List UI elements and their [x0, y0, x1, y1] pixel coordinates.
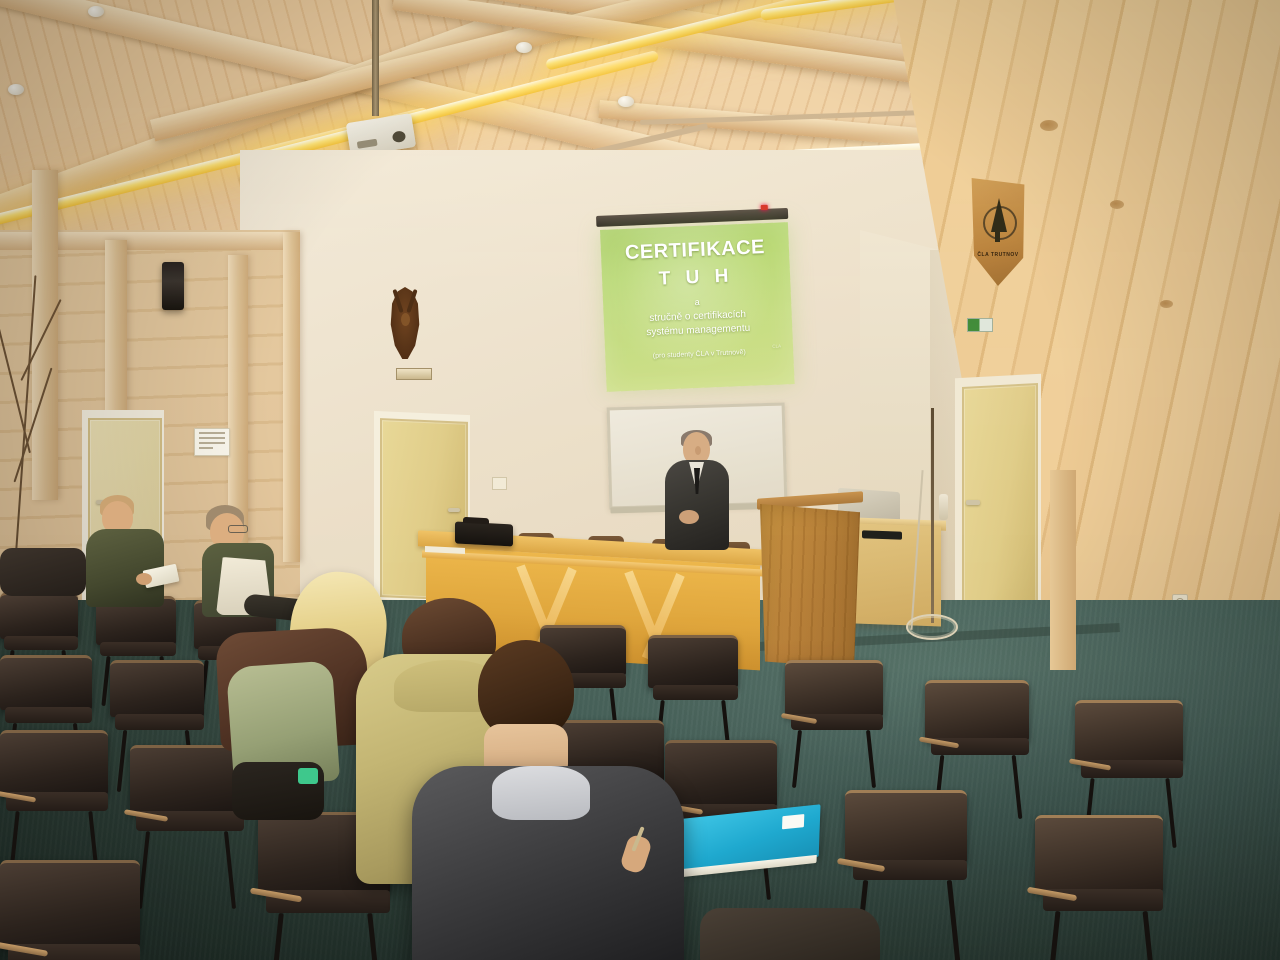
coiled-cable: [906, 614, 958, 640]
green-item: [298, 768, 318, 784]
tree-emblem-icon: [982, 196, 1014, 248]
coat-on-chair: [0, 548, 86, 596]
hunting-trophy-mount: [388, 287, 422, 362]
status-led: [761, 205, 768, 210]
wall-hook: [939, 494, 948, 520]
antenna-pole: [931, 408, 934, 623]
smoke-detector-1: [88, 6, 104, 17]
slide-content: CERTIFIKACE T U H a stručně o certifikac…: [600, 222, 793, 362]
trophy-snout: [401, 313, 410, 326]
man1-hand: [136, 573, 152, 585]
light-switch[interactable]: [492, 477, 507, 490]
smoke-detector-4: [516, 42, 532, 53]
projector-vent: [357, 139, 378, 149]
wall-corner-post: [1050, 470, 1076, 670]
briefcase-on-desk: [455, 521, 513, 546]
slide-audience-note: (pro studenty ČLA v Trutnově): [605, 347, 793, 362]
wood-knot-1: [1040, 120, 1058, 131]
eyeglasses-icon: [228, 525, 248, 533]
slide-title-line2: T U H: [602, 264, 791, 291]
slide-footer-mark: CLA: [772, 344, 781, 349]
wall-speaker: [162, 262, 184, 310]
pennant-text: ČLA TRUTNOV: [974, 252, 1022, 258]
av-equipment: [862, 530, 902, 539]
wooden-lectern: [757, 495, 863, 670]
lecture-hall-photo: ČLA TRUTNOV CERTIFIKACE T U H a stručně …: [0, 0, 1280, 960]
wood-knot-2: [1110, 200, 1124, 209]
smoke-detector-5: [618, 96, 634, 107]
wall-post-4: [283, 232, 300, 562]
smoke-detector-2: [8, 84, 24, 95]
emblem-trunk: [995, 230, 1000, 242]
bag-on-floor: [700, 908, 880, 960]
door-left-handle[interactable]: [448, 508, 460, 512]
slide-title-line1: CERTIFIKACE: [601, 236, 790, 264]
hoodie-inner-collar: [492, 766, 590, 820]
projector-lens-icon: [392, 130, 407, 143]
wood-knot-3: [1160, 300, 1173, 308]
presenter-ear: [695, 446, 701, 455]
projection-screen: CERTIFIKACE T U H a stručně o certifikac…: [600, 222, 795, 392]
notebook-label: [782, 814, 804, 829]
wall-notice-sheet: [194, 428, 230, 456]
trophy-nameplate: [396, 368, 432, 380]
lectern-wood-grain: [760, 504, 860, 668]
emblem-tree-icon: [991, 198, 1007, 232]
presenter-hands: [679, 510, 699, 524]
door-right-handle[interactable]: [966, 500, 980, 505]
emergency-exit-sign: [967, 318, 993, 332]
projector-mount-rod: [372, 0, 379, 116]
